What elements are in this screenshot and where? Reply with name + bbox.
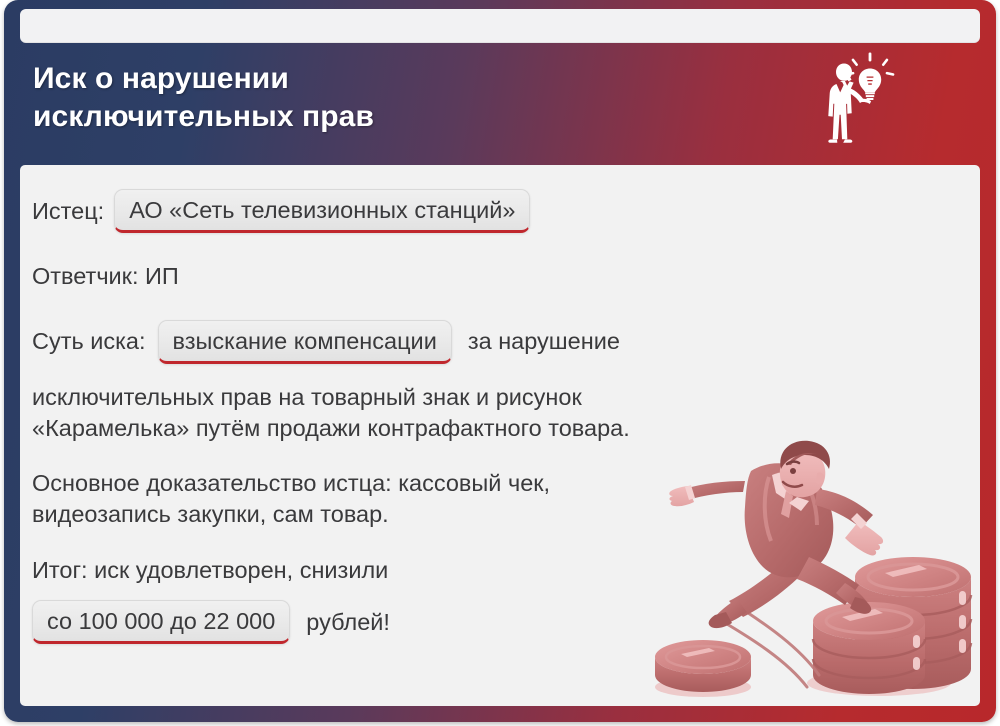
claim-highlight-pill[interactable]: взыскание компенсации <box>158 320 452 364</box>
amount-pill[interactable]: со 100 000 до 22 000 <box>32 600 290 644</box>
infographic-card: Иск о нарушении исключительных прав <box>0 0 1000 726</box>
top-strip <box>20 9 980 43</box>
defendant-text: Ответчик: ИП <box>32 261 179 292</box>
plaintiff-row: Истец: АО «Сеть телевизионных станций» <box>32 189 732 233</box>
defendant-row: Ответчик: ИП <box>32 261 732 292</box>
content-column: Истец: АО «Сеть телевизионных станций» О… <box>32 187 732 644</box>
result-text: Итог: иск удовлетворен, снизили <box>32 555 732 586</box>
evidence-text: Основное доказательство истца: кассовый … <box>32 468 732 531</box>
plaintiff-value-pill[interactable]: АО «Сеть телевизионных станций» <box>114 189 530 233</box>
plaintiff-label: Истец: <box>32 196 104 227</box>
amount-after-text: рублей! <box>306 607 390 638</box>
man-with-lightbulb-icon <box>812 48 898 160</box>
amount-row: со 100 000 до 22 000 рублей! <box>32 600 732 644</box>
claim-continuation-text: исключительных прав на товарный знак и р… <box>32 382 732 445</box>
card-header: Иск о нарушении исключительных прав <box>20 46 980 162</box>
content-panel: Истец: АО «Сеть телевизионных станций» О… <box>20 165 980 706</box>
page-title: Иск о нарушении исключительных прав <box>33 60 733 136</box>
claim-label: Суть иска: <box>32 326 146 357</box>
claim-row: Суть иска: взыскание компенсации за нару… <box>32 320 732 364</box>
claim-after-text: за нарушение <box>468 326 620 357</box>
